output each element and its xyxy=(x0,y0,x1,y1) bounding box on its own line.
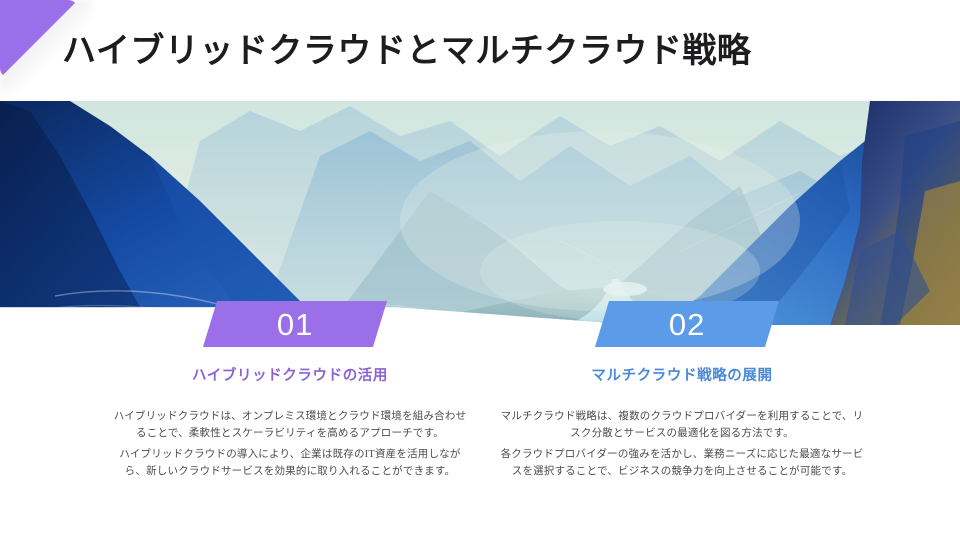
badge-number-label: 01 xyxy=(277,309,313,340)
column-paragraph: マルチクラウド戦略は、複数のクラウドプロバイダーを利用することで、リスク分散とサ… xyxy=(500,408,864,442)
column-heading-1: ハイブリッドクラウドの活用 xyxy=(90,366,490,386)
page-title: ハイブリッドクラウドとマルチクラウド戦略 xyxy=(62,26,751,78)
column-paragraph: ハイブリッドクラウドは、オンプレミス環境とクラウド環境を組み合わせることで、柔軟… xyxy=(112,408,468,442)
column-body-2: マルチクラウド戦略は、複数のクラウドプロバイダーを利用することで、リスク分散とサ… xyxy=(482,408,882,480)
number-badge-01[interactable]: 01 xyxy=(203,301,387,347)
hero-image xyxy=(0,101,960,325)
content-column-2: マルチクラウド戦略の展開 マルチクラウド戦略は、複数のクラウドプロバイダーを利用… xyxy=(482,366,882,484)
content-column-1: ハイブリッドクラウドの活用 ハイブリッドクラウドは、オンプレミス環境とクラウド環… xyxy=(90,366,490,484)
column-body-1: ハイブリッドクラウドは、オンプレミス環境とクラウド環境を組み合わせることで、柔軟… xyxy=(90,408,490,480)
badge-number-label: 02 xyxy=(669,309,705,340)
column-paragraph: ハイブリッドクラウドの導入により、企業は既存のIT資産を活用しながら、新しいクラ… xyxy=(112,446,468,480)
column-paragraph: 各クラウドプロバイダーの強みを活かし、業務ニーズに応じた最適なサービスを選択する… xyxy=(500,446,864,480)
number-badge-02[interactable]: 02 xyxy=(595,301,779,347)
column-heading-2: マルチクラウド戦略の展開 xyxy=(482,366,882,386)
slide-root: ハイブリッドクラウドとマルチクラウド戦略 xyxy=(0,0,960,540)
mountain-landscape-illustration xyxy=(0,101,960,325)
